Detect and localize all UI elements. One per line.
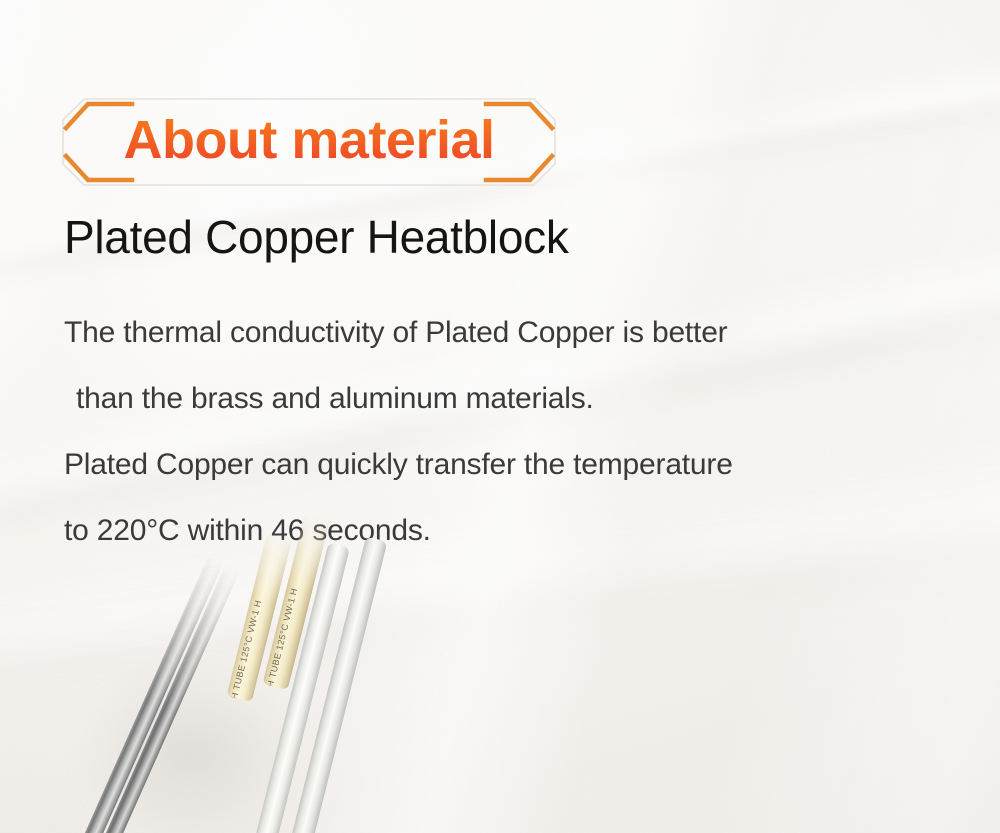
description-line-2: than the brass and aluminum materials. xyxy=(64,366,964,432)
description-paragraph: The thermal conductivity of Plated Coppe… xyxy=(64,300,964,564)
description-line-4: to 220°C within 46 seconds. xyxy=(64,498,964,564)
badge-title-text: About material xyxy=(62,98,556,186)
description-line-1: The thermal conductivity of Plated Coppe… xyxy=(64,300,964,366)
about-material-badge: About material xyxy=(62,98,556,186)
description-line-3: Plated Copper can quickly transfer the t… xyxy=(64,432,964,498)
page-title: Plated Copper Heatblock xyxy=(64,210,569,264)
product-description-page: About material Plated Copper Heatblock T… xyxy=(0,0,1000,833)
